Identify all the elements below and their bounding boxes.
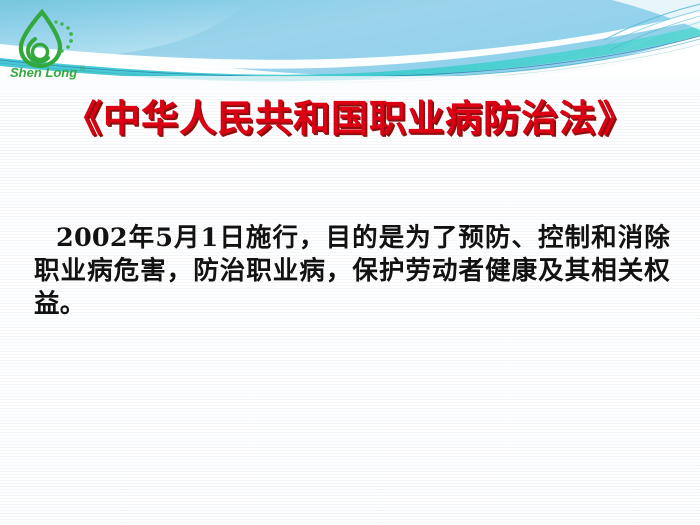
slide-body-paragraph: 2002年5月1日施行，目的是为了预防、控制和消除职业病危害，防治职业病，保护劳… xyxy=(34,222,670,321)
logo-brand-text: Shen Long xyxy=(10,65,77,80)
shen-long-logo: Shen Long ® xyxy=(6,8,98,80)
header-wave-graphic xyxy=(0,0,700,92)
slide-title: 《中华人民共和国职业病防治法》 xyxy=(0,95,700,141)
presentation-slide: Shen Long ® 《中华人民共和国职业病防治法》 2002年5月1日施行，… xyxy=(0,0,700,525)
water-drop-icon xyxy=(21,12,60,66)
logo-registered-mark: ® xyxy=(80,65,86,73)
header-banner xyxy=(0,0,700,92)
